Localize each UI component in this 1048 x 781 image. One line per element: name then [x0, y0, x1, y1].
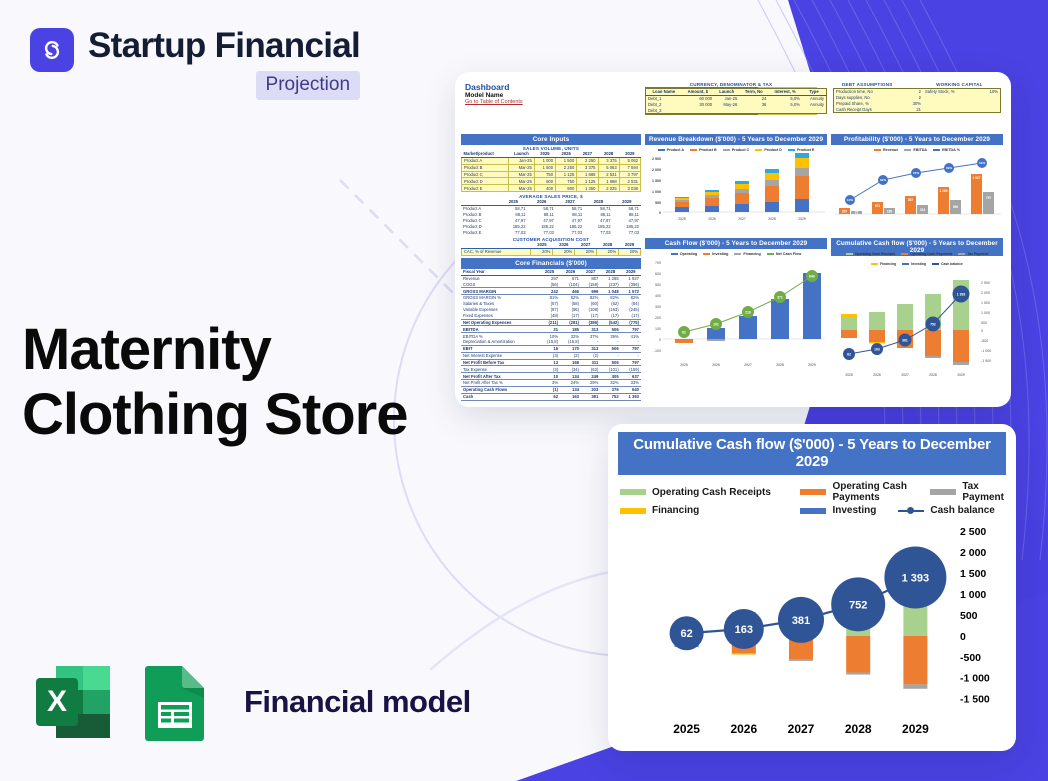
- data-point-label: 752: [849, 599, 867, 611]
- profitability-chart: 10%32%37% 39%41% 297571857 1 2851 927 31…: [831, 152, 1003, 224]
- svg-text:2 500: 2 500: [981, 281, 990, 285]
- legend-item: Operating Cash Payments: [901, 252, 952, 256]
- svg-text:1 500: 1 500: [981, 301, 990, 305]
- svg-text:2025: 2025: [845, 373, 853, 377]
- svg-text:2028: 2028: [929, 373, 937, 377]
- table-row: Operating Cash Flows(1)134203376640: [461, 387, 641, 394]
- svg-text:500: 500: [655, 201, 661, 205]
- table-row: GROSS MARGIN %81%82%82%82%82%: [461, 295, 641, 301]
- brand-logo: Startup Financial Projection: [30, 28, 360, 100]
- y-axis-tick: -1 500: [960, 694, 990, 706]
- x-axis-label: 2027: [788, 722, 815, 736]
- cash-flow-title: Cash Flow ($'000) - 5 Years to December …: [645, 238, 827, 249]
- svg-text:62: 62: [847, 352, 851, 356]
- brand-title: Startup Financial: [88, 28, 360, 63]
- cumulative-cash-flow-svg: 2 5002 0001 5001 0005000-500-1 000-1 500…: [618, 521, 1006, 743]
- brand-mark-icon: [30, 28, 74, 72]
- bar-segment: [732, 653, 756, 654]
- table-row: Net Profit After Tax %3%24%29%32%33%: [461, 380, 641, 387]
- table-header-row: Loan Name Amount, $ Launch Term, No Inte…: [646, 89, 827, 96]
- table-row: Product B Mar-25 1 500 2 250 3 375 5 063…: [462, 164, 641, 171]
- svg-text:571: 571: [875, 204, 881, 208]
- svg-text:2026: 2026: [873, 373, 881, 377]
- table-row: Cash Receipt Days 21: [834, 107, 1001, 113]
- footer-label: Financial model: [244, 684, 471, 720]
- svg-text:2 000: 2 000: [981, 291, 990, 295]
- svg-text:0: 0: [659, 338, 661, 342]
- svg-text:371: 371: [777, 295, 783, 299]
- legend-swatch-payments: [800, 489, 826, 495]
- legend-swatch-receipts: [620, 489, 646, 495]
- svg-text:500: 500: [655, 283, 661, 287]
- legend-item-payments: Operating Cash Payments Tax Payment: [800, 481, 1004, 503]
- google-sheets-icon: [134, 660, 218, 744]
- svg-text:2025: 2025: [678, 217, 686, 221]
- debt-caption: DEBT ASSUMPTIONS: [821, 82, 914, 87]
- legend-label: Cash balance: [930, 505, 994, 516]
- table-row: Product A Jan-25 1 000 1 500 2 250 3 375…: [462, 157, 641, 164]
- svg-text:31: 31: [855, 211, 859, 215]
- y-axis-tick: -500: [960, 652, 981, 664]
- svg-text:381: 381: [902, 338, 908, 342]
- svg-text:2027: 2027: [738, 217, 746, 221]
- table-row: Product E 77,03 77,03 77,03 77,03 77,03: [461, 229, 641, 235]
- svg-text:41%: 41%: [979, 161, 985, 165]
- svg-text:2026: 2026: [708, 217, 716, 221]
- svg-text:163: 163: [874, 347, 880, 351]
- svg-text:39%: 39%: [946, 166, 952, 170]
- data-point-label: 1 393: [902, 573, 930, 585]
- svg-text:797: 797: [986, 196, 992, 200]
- svg-text:2027: 2027: [901, 373, 909, 377]
- legend-item: Operating Cash Receipts: [846, 252, 895, 256]
- legend-item-investing: Investing Cash balance: [800, 505, 1004, 516]
- legend-swatch-investing: [800, 508, 826, 514]
- footer-badges: X Financial model: [32, 660, 471, 744]
- y-axis-tick: 1 000: [960, 589, 986, 601]
- data-point-label: 163: [735, 624, 753, 636]
- table-row: Debt_3: [646, 108, 827, 114]
- data-point-label: 381: [792, 615, 810, 627]
- page-title: Maternity Clothing Store: [22, 318, 492, 448]
- svg-text:37%: 37%: [913, 171, 919, 175]
- dashboard-toc-link[interactable]: Go to Table of Contents: [465, 99, 641, 105]
- y-axis-tick: 2 500: [960, 526, 986, 538]
- svg-text:100: 100: [655, 327, 661, 331]
- svg-text:185: 185: [887, 210, 893, 214]
- x-axis-label: 2029: [902, 722, 929, 736]
- svg-text:506: 506: [953, 205, 959, 209]
- svg-text:300: 300: [655, 305, 661, 309]
- svg-text:752: 752: [930, 322, 936, 326]
- avg-price-table: 2025 2026 2027 2028 2029 Product A 58,71…: [461, 199, 641, 235]
- x-axis-label: 2028: [845, 722, 872, 736]
- cumulative-cash-flow-card[interactable]: Cumulative Cash flow ($'000) - 5 Years t…: [608, 424, 1016, 751]
- cumulative-cash-flow-mini-legend: Operating Cash Receipts Operating Cash P…: [831, 252, 1003, 266]
- bar-segment: [789, 660, 813, 661]
- table-row: EBIT15170313506797: [461, 345, 641, 352]
- svg-text:-1 000: -1 000: [981, 349, 991, 353]
- svg-text:218: 218: [745, 310, 751, 314]
- svg-text:857: 857: [908, 198, 914, 202]
- svg-text:1 000: 1 000: [981, 311, 990, 315]
- core-inputs-banner: Core Inputs: [461, 134, 641, 145]
- table-row: Net Profit Before Tax13168311506797: [461, 359, 641, 366]
- svg-text:2029: 2029: [798, 217, 806, 221]
- svg-text:2 500: 2 500: [652, 157, 661, 161]
- table-row: CAC, % of Revenue 20% 20% 20% 20% 20%: [462, 248, 641, 255]
- table-row: Product D Mar-25 500 750 1 125 1 688 2 5…: [462, 178, 641, 185]
- table-row: Product E Mar-25 400 900 1 350 2 025 3 0…: [462, 185, 641, 192]
- bar-segment: [846, 636, 870, 673]
- chart-title: Cumulative Cash flow ($'000) - 5 Years t…: [618, 432, 1006, 475]
- cumulative-cash-flow-mini-chart: 2 5002 0001 500 1 0005000 -500-1 000-1 5…: [831, 266, 1003, 384]
- table-row: GROSS MARGIN2424666991 0481 572: [461, 288, 641, 295]
- y-axis-tick: 2 000: [960, 547, 986, 559]
- table-row: Net Operating Expenses(211)(281)(386)(54…: [461, 319, 641, 326]
- table-row: Net Interest Expense(3)(2)(2)--: [461, 352, 641, 359]
- svg-text:X: X: [47, 685, 67, 718]
- svg-text:2029: 2029: [808, 363, 816, 367]
- svg-text:0: 0: [659, 211, 661, 215]
- svg-text:32%: 32%: [880, 178, 886, 182]
- page-title-line-2: Clothing Store: [22, 383, 492, 448]
- dashboard-preview-card[interactable]: Dashboard Model Name Go to Table of Cont…: [455, 72, 1011, 407]
- table-row: Salaries & Taxes(57)(58)(60)(62)(64): [461, 301, 641, 307]
- table-row: Fixed Expenses(48)(17)(17)(17)(17): [461, 313, 641, 319]
- legend-item-financing: Financing: [620, 505, 800, 516]
- legend-label: Financing: [652, 505, 699, 516]
- cash-flow-chart: 700600500 400300200 1000-100: [645, 256, 827, 374]
- legend-swatch-balance: [898, 510, 924, 512]
- svg-text:62: 62: [682, 330, 686, 334]
- table-row: EBITDA31185313506797: [461, 326, 641, 333]
- dashboard-model-name: Model Name: [465, 92, 641, 99]
- table-row: Product C Mar-25 750 1 125 1 688 2 531 3…: [462, 171, 641, 178]
- core-financials-table: Fiscal Year20252026202720282029Revenue29…: [461, 269, 641, 401]
- y-axis-tick: 1 500: [960, 568, 986, 580]
- legend-swatch-tax: [930, 489, 956, 495]
- legend-item: Tax Payment: [958, 252, 988, 256]
- legend-label: Tax Payment: [962, 481, 1004, 503]
- x-axis-label: 2026: [730, 722, 757, 736]
- svg-text:2029: 2029: [957, 373, 965, 377]
- bar-segment: [903, 636, 927, 685]
- svg-text:-1 500: -1 500: [981, 359, 991, 363]
- dashboard-title: Dashboard: [465, 82, 641, 92]
- table-row: Net Profit After Tax10134249405637: [461, 373, 641, 380]
- page-title-line-1: Maternity: [22, 318, 492, 383]
- svg-text:700: 700: [655, 261, 661, 265]
- debt-assumptions-table: Loan Name Amount, $ Launch Term, No Inte…: [645, 88, 827, 114]
- svg-text:-500: -500: [981, 339, 988, 343]
- y-axis-tick: 500: [960, 610, 978, 622]
- svg-text:1 500: 1 500: [652, 179, 661, 183]
- svg-text:600: 600: [655, 272, 661, 276]
- svg-text:1 000: 1 000: [652, 190, 661, 194]
- svg-text:297: 297: [842, 210, 848, 214]
- legend-item-receipts: Operating Cash Receipts: [620, 481, 800, 503]
- svg-text:101: 101: [713, 322, 719, 326]
- svg-text:400: 400: [655, 294, 661, 298]
- legend-swatch-financing: [620, 508, 646, 514]
- y-axis-tick: -1 000: [960, 673, 990, 685]
- infinity-e-logo-icon: [38, 36, 66, 64]
- legend-label: Operating Cash Receipts: [652, 487, 771, 498]
- svg-text:2028: 2028: [768, 217, 776, 221]
- svg-text:640: 640: [809, 274, 815, 278]
- sales-volume-table: Market/product Launch 2025 2026 2027 202…: [461, 151, 641, 192]
- svg-text:1 927: 1 927: [973, 176, 981, 180]
- core-financials-banner: Core Financials ($'000): [461, 258, 641, 269]
- x-axis-label: 2025: [673, 722, 700, 736]
- brand-subtitle: Projection: [256, 71, 361, 100]
- chart-legend: Operating Cash Receipts Operating Cash P…: [620, 480, 1004, 517]
- svg-text:2025: 2025: [680, 363, 688, 367]
- cac-table: 2025 2026 2027 2028 2029 CAC, % of Reven…: [461, 242, 641, 256]
- microsoft-excel-icon: X: [32, 660, 116, 744]
- revenue-breakdown-chart: 2 500 2 000 1 500 1 000 500 0: [645, 152, 827, 224]
- legend-label: Operating Cash Payments: [832, 481, 912, 503]
- svg-text:500: 500: [981, 321, 987, 325]
- svg-text:-100: -100: [654, 349, 661, 353]
- svg-text:2028: 2028: [776, 363, 784, 367]
- poster-canvas: Startup Financial Projection Maternity C…: [0, 0, 1048, 781]
- data-point-label: 62: [680, 628, 692, 640]
- svg-text:0: 0: [981, 329, 983, 333]
- profitability-title: Profitability ($'000) - 5 Years to Decem…: [831, 134, 1003, 145]
- y-axis-tick: 0: [960, 631, 966, 643]
- chart-plot-area: 2 5002 0001 5001 0005000-500-1 000-1 500…: [618, 521, 1006, 743]
- svg-text:2026: 2026: [712, 363, 720, 367]
- svg-text:1 393: 1 393: [957, 292, 966, 296]
- svg-text:2027: 2027: [744, 363, 752, 367]
- svg-text:1 285: 1 285: [940, 189, 948, 193]
- table-row: Variable Expenses(97)(96)(108)(163)(245): [461, 307, 641, 313]
- svg-text:200: 200: [655, 316, 661, 320]
- svg-text:313: 313: [920, 208, 926, 212]
- bar-segment: [903, 684, 927, 688]
- table-row: Cash621633817521 393: [461, 393, 641, 400]
- bar-segment: [846, 672, 870, 674]
- table-row: Tax Expense(3)(34)(62)(101)(159): [461, 366, 641, 373]
- svg-text:10%: 10%: [847, 198, 853, 202]
- legend-label: Investing: [832, 505, 876, 516]
- svg-text:2 000: 2 000: [652, 168, 661, 172]
- revenue-breakdown-title: Revenue Breakdown ($'000) - 5 Years to D…: [645, 134, 827, 145]
- working-capital-table: Production time, No 2 Safety Stock, % 10…: [833, 88, 1001, 113]
